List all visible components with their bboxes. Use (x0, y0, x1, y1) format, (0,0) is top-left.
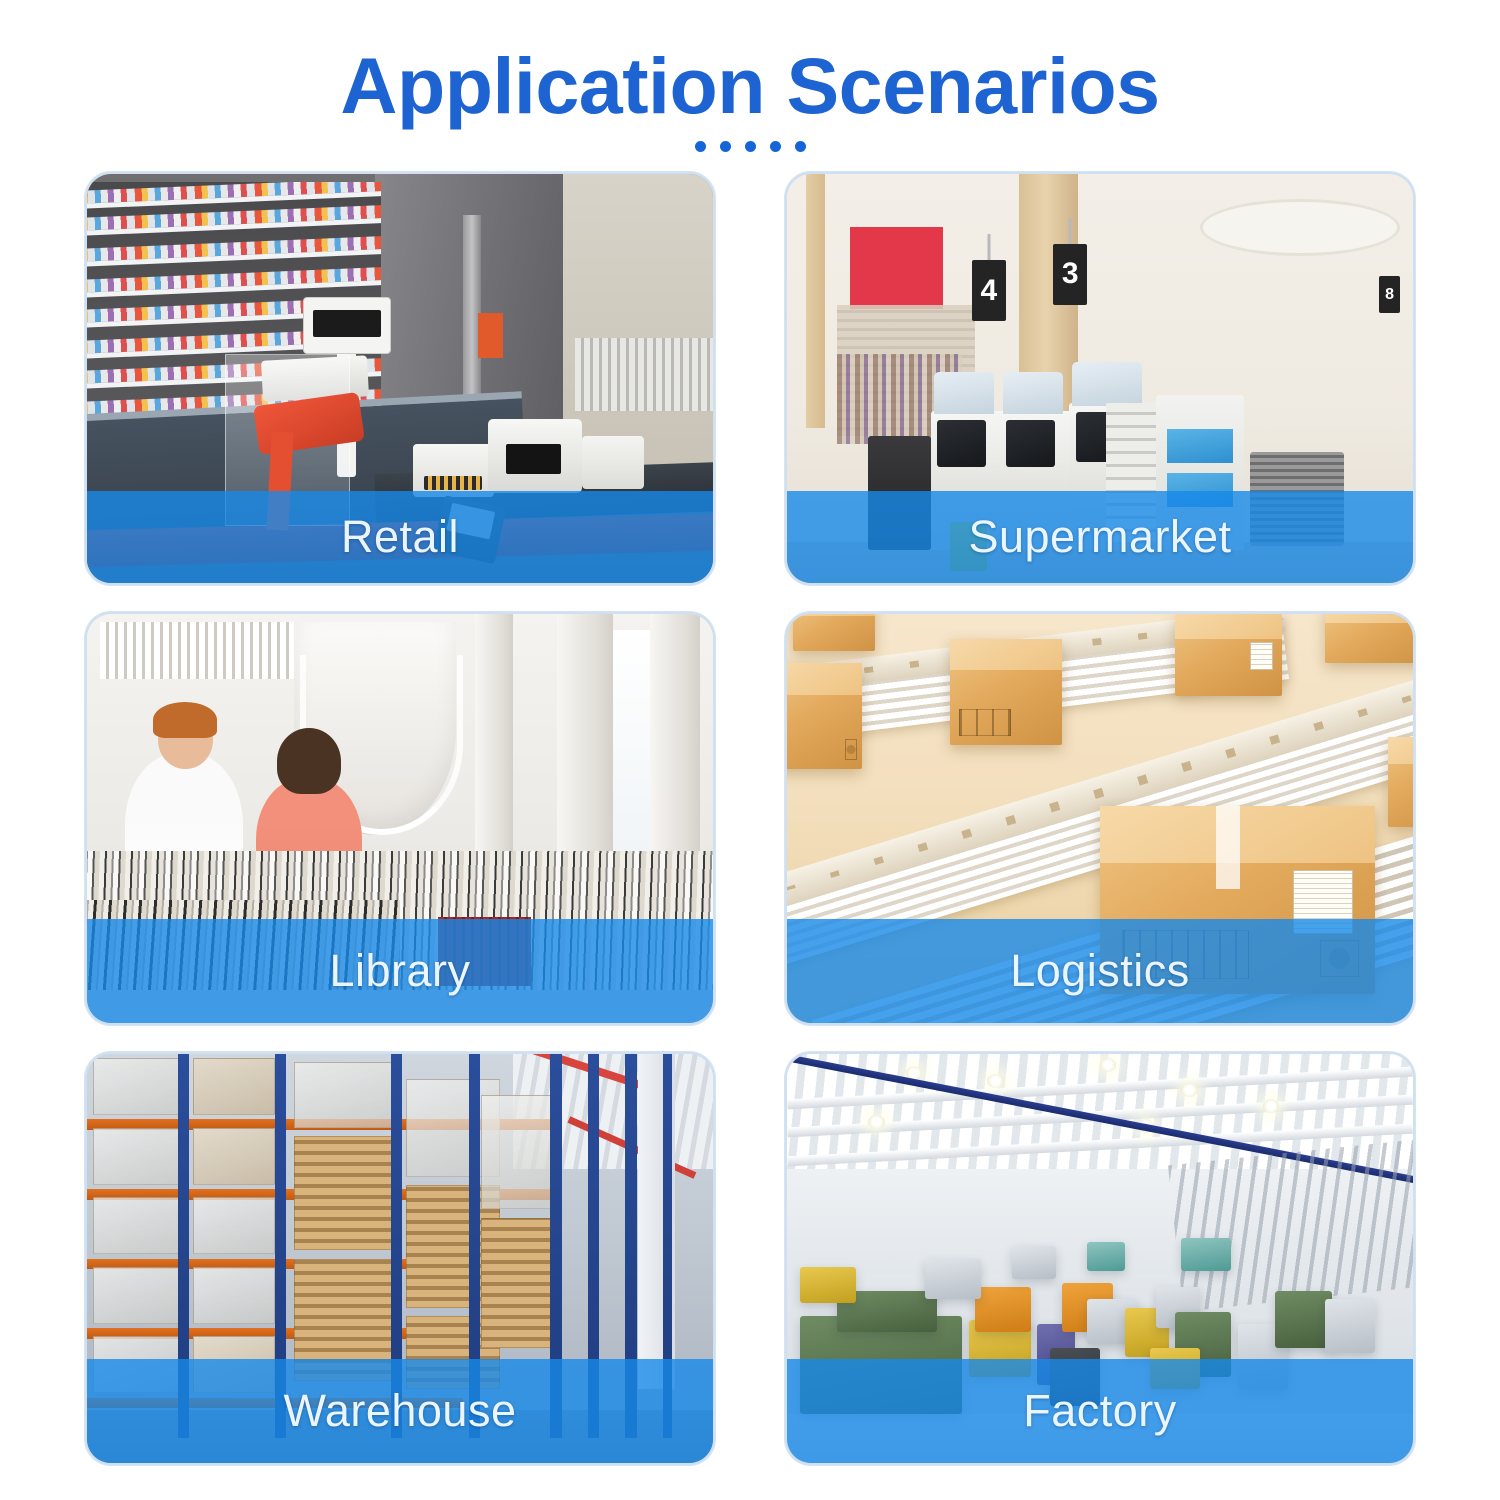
lane-sign-8: 8 (1379, 276, 1401, 313)
scenario-card-retail[interactable]: Retail (85, 172, 715, 585)
lane-sign-3: 3 (1053, 244, 1087, 305)
scenario-card-factory[interactable]: Factory (785, 1052, 1415, 1465)
money-counter-icon (488, 419, 582, 493)
decorator-dot (795, 141, 806, 152)
pos-customer-display-icon (303, 297, 391, 354)
decorator-dot (720, 141, 731, 152)
card-label-library: Library (329, 945, 470, 997)
lane-sign-4: 4 (972, 260, 1006, 321)
pallet-stack (294, 1136, 394, 1251)
card-label-band-logistics: Logistics (787, 919, 1413, 1023)
decorator-dot (770, 141, 781, 152)
card-label-retail: Retail (341, 511, 459, 563)
decorator-dot (695, 141, 706, 152)
scenario-card-supermarket[interactable]: 4 3 8 (785, 172, 1415, 585)
scenario-card-logistics[interactable]: Logistics (785, 612, 1415, 1025)
weighing-scale-icon (413, 444, 494, 497)
scenario-card-library[interactable]: Library (85, 612, 715, 1025)
card-label-band-library: Library (87, 919, 713, 1023)
card-label-factory: Factory (1023, 1385, 1177, 1437)
pallet-stack (481, 1218, 556, 1349)
page-title: Application Scenarios (0, 46, 1500, 125)
scenario-card-grid: Retail 4 3 (85, 172, 1415, 1465)
decorator-dot (745, 141, 756, 152)
card-label-warehouse: Warehouse (284, 1385, 517, 1437)
card-label-band-warehouse: Warehouse (87, 1359, 713, 1463)
lane-sign-3-number: 3 (1062, 257, 1079, 291)
card-label-band-factory: Factory (787, 1359, 1413, 1463)
card-label-band-retail: Retail (87, 491, 713, 583)
card-label-logistics: Logistics (1010, 945, 1190, 997)
lane-sign-4-number: 4 (981, 274, 998, 308)
scenario-card-warehouse[interactable]: Warehouse (85, 1052, 715, 1465)
card-label-band-supermarket: Supermarket (787, 491, 1413, 583)
card-label-supermarket: Supermarket (968, 511, 1231, 563)
application-scenarios-page: Application Scenarios (0, 0, 1500, 1500)
lane-sign-8-number: 8 (1385, 286, 1394, 304)
page-header: Application Scenarios (0, 0, 1500, 152)
title-decorator-dots (0, 141, 1500, 152)
